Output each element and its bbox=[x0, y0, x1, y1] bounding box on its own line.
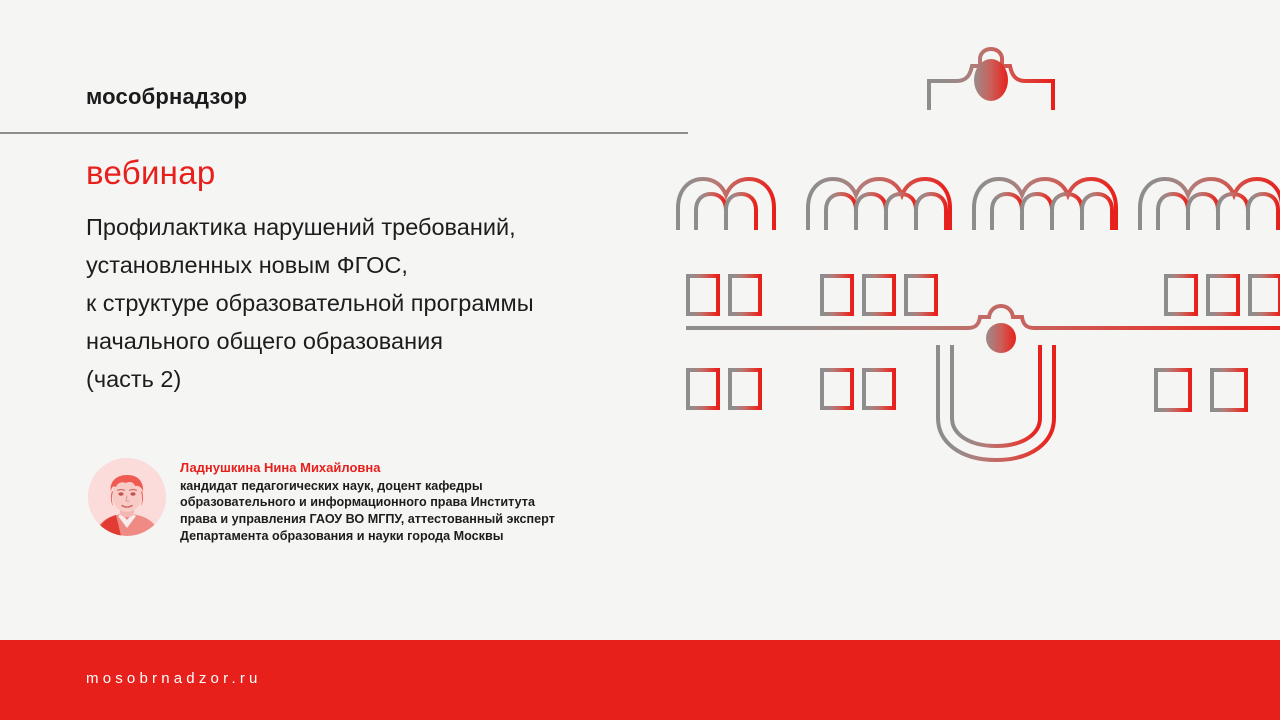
speaker-name: Ладнушкина Нина Михайловна bbox=[180, 460, 555, 477]
avatar bbox=[88, 458, 166, 536]
speaker-description-line: образовательного и информационного права… bbox=[180, 494, 555, 511]
speaker-description-line: кандидат педагогических наук, доцент каф… bbox=[180, 478, 555, 495]
speaker-description-line: Департамента образования и науки города … bbox=[180, 528, 555, 545]
speaker-block: Ладнушкина Нина Михайловна кандидат педа… bbox=[88, 458, 555, 545]
pediment-medallion bbox=[986, 323, 1016, 353]
title-line: начального общего образования bbox=[86, 322, 686, 360]
slide-root: мособрнадзор вебинар Профилактика наруше… bbox=[0, 0, 1280, 720]
footer-bar: mosobrnadzor.ru bbox=[0, 640, 1280, 720]
title-line: Профилактика нарушений требований, bbox=[86, 208, 686, 246]
building-facade-illustration bbox=[656, 18, 1280, 448]
page-title: Профилактика нарушений требований, устан… bbox=[86, 208, 686, 398]
title-line: (часть 2) bbox=[86, 360, 686, 398]
header-divider bbox=[0, 132, 688, 134]
title-line: к структуре образовательной программы bbox=[86, 284, 686, 322]
speaker-description-line: права и управления ГАОУ ВО МГПУ, аттесто… bbox=[180, 511, 555, 528]
title-line: установленных новым ФГОС, bbox=[86, 246, 686, 284]
footer-url[interactable]: mosobrnadzor.ru bbox=[86, 670, 262, 687]
speaker-text: Ладнушкина Нина Михайловна кандидат педа… bbox=[180, 458, 555, 545]
cupola-medallion bbox=[974, 59, 1008, 101]
kicker-label: вебинар bbox=[86, 155, 216, 191]
brand-wordmark: мособрнадзор bbox=[86, 86, 247, 108]
speaker-description: кандидат педагогических наук, доцент каф… bbox=[180, 478, 555, 545]
